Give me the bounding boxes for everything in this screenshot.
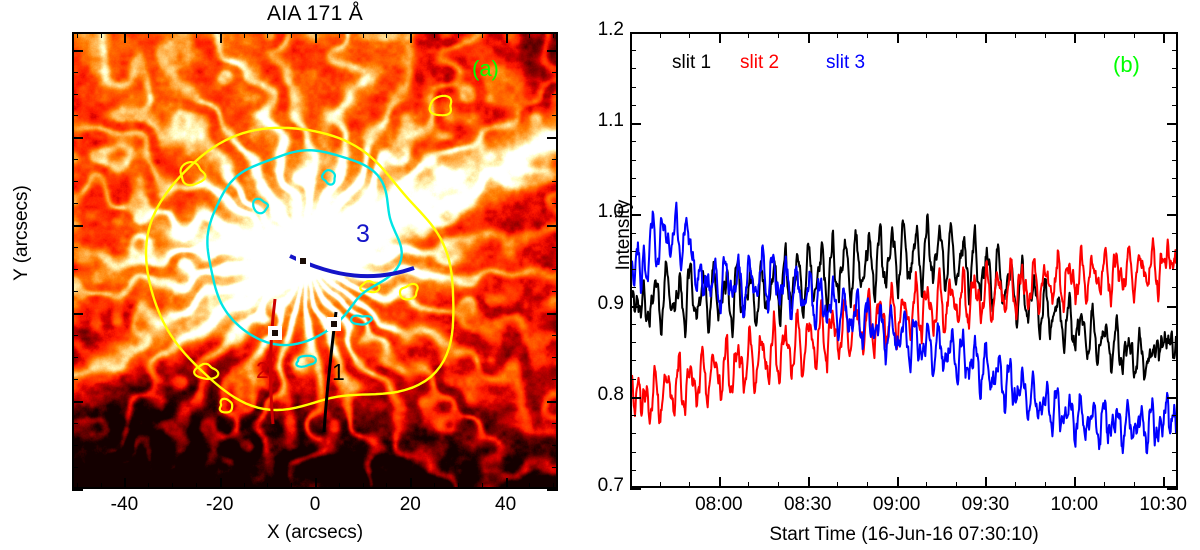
panel-a-tag: (a) [472,56,499,82]
y-tick-major-right [547,137,558,139]
y-tick-major-right [1167,32,1178,34]
x-tick-label: -40 [89,494,159,516]
y-tick-minor [630,360,636,361]
y-tick-minor-right [1172,452,1178,453]
y-tick-minor [630,50,636,51]
y-tick-minor-right [1172,87,1178,88]
y-tick-minor [72,423,78,424]
y-tick-minor [630,105,636,106]
panel-b-tag: (b) [1113,52,1140,78]
slit-2-curve [271,299,275,424]
y-tick-major-right [547,313,558,315]
yellow-contour-island [400,284,418,300]
y-tick-minor-right [1172,379,1178,380]
x-tick-minor [660,482,661,488]
y-tick-minor [72,203,78,204]
y-tick-minor-right [1172,178,1178,179]
x-tick-major-top [124,32,126,43]
x-tick-minor [529,483,530,489]
y-tick-minor-right [1172,269,1178,270]
y-tick-minor [630,379,636,380]
panel-b-x-axis-label: Start Time (16-Jun-16 07:30:10) [630,524,1178,546]
y-tick-minor [72,115,78,116]
x-tick-minor-top [267,32,268,38]
y-tick-minor-right [1172,50,1178,51]
y-tick-minor [72,94,78,95]
x-tick-minor [956,482,957,488]
x-tick-minor [1015,482,1016,488]
yellow-contour-island [360,281,379,292]
y-tick-minor-right [1172,433,1178,434]
y-tick-minor-right [552,467,558,468]
x-tick-minor-top [434,32,435,38]
x-tick-label: 0 [280,494,350,516]
y-tick-minor [630,68,636,69]
x-tick-major [1074,477,1076,488]
cyan-contour-island [296,356,315,367]
panel-a-title: AIA 171 Å [72,2,558,26]
y-tick-minor-right [552,357,558,358]
y-tick-minor [72,72,78,73]
x-tick-minor-top [482,32,483,38]
yellow-contour-island [430,96,452,116]
slit-1-marker-core [331,321,337,327]
panel-a-aia-image: AIA 171 Å 123 -40-2002040-80-100-120-140… [0,0,600,550]
y-tick-minor-right [552,445,558,446]
x-tick-minor-top [837,32,838,38]
x-tick-minor [689,482,690,488]
x-tick-minor [1134,482,1135,488]
x-tick-major [808,477,810,488]
x-tick-major-top [315,32,317,43]
x-tick-minor-top [101,32,102,38]
slit-3-marker-core [300,258,306,264]
x-tick-minor-top [148,32,149,38]
x-tick-major-top [719,32,721,43]
y-tick-minor [630,452,636,453]
y-tick-minor-right [552,94,558,95]
y-tick-major-right [1167,488,1178,490]
x-tick-minor [363,483,364,489]
x-tick-minor [101,483,102,489]
y-tick-major-right [547,225,558,227]
y-tick-minor [72,247,78,248]
x-tick-label: 08:30 [768,494,848,516]
y-tick-label: 0.8 [598,384,624,406]
x-tick-major-top [1163,32,1165,43]
y-tick-minor-right [552,203,558,204]
y-tick-minor-right [1172,160,1178,161]
y-tick-minor [72,181,78,182]
x-tick-minor-top [778,32,779,38]
y-tick-major-right [1167,123,1178,125]
x-tick-major-top [897,32,899,43]
y-tick-minor-right [552,72,558,73]
x-tick-label: 10:00 [1034,494,1114,516]
x-tick-minor-top [458,32,459,38]
y-tick-minor-right [552,115,558,116]
y-tick-major [72,50,83,52]
legend-item-slit-1: slit 1 [672,52,711,74]
x-tick-minor-top [363,32,364,38]
intensity-curves [632,34,1176,486]
y-tick-minor-right [1172,105,1178,106]
x-tick-label: 08:00 [679,494,759,516]
y-tick-minor-right [1172,287,1178,288]
x-tick-minor [867,482,868,488]
y-tick-label: 1.2 [598,19,624,41]
x-tick-minor-top [291,32,292,38]
x-tick-minor-top [244,32,245,38]
x-tick-label: 20 [375,494,445,516]
x-tick-major-top [410,32,412,43]
x-tick-label: 09:30 [945,494,1025,516]
y-tick-minor [72,467,78,468]
x-tick-minor-top [553,32,554,38]
y-tick-minor-right [552,423,558,424]
y-tick-minor-right [552,247,558,248]
y-tick-minor-right [552,159,558,160]
x-tick-minor [339,483,340,489]
y-tick-major [72,313,83,315]
x-tick-minor [148,483,149,489]
y-tick-major-right [1167,397,1178,399]
x-tick-minor-top [1104,32,1105,38]
x-tick-minor [926,482,927,488]
x-tick-minor-top [689,32,690,38]
y-tick-minor-right [1172,360,1178,361]
y-tick-major [72,137,83,139]
y-tick-minor-right [552,379,558,380]
x-tick-minor [434,483,435,489]
x-tick-major-top [220,32,222,43]
yellow-contour-island [194,364,218,379]
y-tick-minor [72,379,78,380]
x-tick-minor-top [926,32,927,38]
y-tick-label: 0.7 [598,475,624,497]
y-tick-minor-right [552,181,558,182]
y-tick-major [630,123,641,125]
y-tick-minor [630,342,636,343]
y-tick-minor [630,470,636,471]
y-tick-major-right [547,401,558,403]
y-tick-major-right [547,50,558,52]
x-tick-label: 09:00 [857,494,937,516]
y-tick-major-right [1167,214,1178,216]
x-tick-major [124,478,126,489]
x-tick-minor-top [529,32,530,38]
panel-b-y-axis-label: Intensity [613,145,635,325]
x-tick-major [719,477,721,488]
y-tick-minor-right [1172,324,1178,325]
x-tick-major [315,478,317,489]
x-tick-minor-top [172,32,173,38]
x-tick-minor [748,482,749,488]
y-tick-minor [72,291,78,292]
y-tick-minor [72,445,78,446]
x-tick-minor [482,483,483,489]
y-tick-major [630,488,641,490]
x-tick-major [897,477,899,488]
y-tick-minor [630,87,636,88]
x-tick-major-top [506,32,508,43]
y-tick-minor [72,269,78,270]
x-tick-major [220,478,222,489]
x-tick-minor [1104,482,1105,488]
y-tick-minor-right [1172,415,1178,416]
y-tick-minor [630,415,636,416]
cyan-contour-island [253,199,268,214]
x-tick-minor-top [748,32,749,38]
y-tick-minor-right [552,291,558,292]
panel-a-y-axis-label: Y (arcsecs) [11,143,33,323]
timeseries-plot-frame [630,32,1178,488]
y-tick-minor-right [552,269,558,270]
x-tick-major [410,478,412,489]
x-tick-minor [244,483,245,489]
y-tick-minor-right [1172,251,1178,252]
cyan-contour-island [351,316,372,325]
x-tick-label: -20 [185,494,255,516]
x-tick-minor [1045,482,1046,488]
x-tick-minor-top [1015,32,1016,38]
y-tick-minor-right [1172,196,1178,197]
slit-3-label: 3 [356,220,370,248]
slit-1-label: 1 [332,359,345,385]
x-tick-minor-top [956,32,957,38]
y-tick-label: 1.1 [598,110,624,132]
x-tick-minor [458,483,459,489]
x-tick-major-top [808,32,810,43]
x-tick-major [1163,477,1165,488]
x-tick-minor-top [1045,32,1046,38]
x-tick-major [985,477,987,488]
y-tick-minor-right [1172,233,1178,234]
y-tick-minor-right [1172,141,1178,142]
y-tick-minor [72,357,78,358]
overlay-contours-and-slits: 123 [74,34,556,487]
y-tick-minor-right [1172,68,1178,69]
y-tick-major [72,401,83,403]
x-tick-label: 10:30 [1123,494,1200,516]
y-tick-minor-right [1172,342,1178,343]
y-tick-minor [630,141,636,142]
y-tick-minor [630,433,636,434]
slit-2-marker-core [272,330,278,336]
panel-a-x-axis-label: X (arcsecs) [72,522,558,544]
cyan-contour [207,150,401,345]
x-tick-minor-top [386,32,387,38]
aia-image-frame: 123 [72,32,558,489]
x-tick-minor [386,483,387,489]
x-tick-minor-top [660,32,661,38]
x-tick-major-top [985,32,987,43]
x-tick-minor-top [196,32,197,38]
x-tick-major-top [1074,32,1076,43]
legend-item-slit-2: slit 2 [740,52,779,74]
y-tick-minor-right [1172,470,1178,471]
yellow-contour-island [220,399,232,413]
y-tick-minor [72,159,78,160]
cyan-contour-island [322,170,335,184]
x-tick-minor-top [77,32,78,38]
y-tick-major [72,489,83,491]
solar-figure: AIA 171 Å 123 -40-2002040-80-100-120-140… [0,0,1200,550]
x-tick-minor-top [339,32,340,38]
y-tick-major [630,397,641,399]
legend-item-slit-3: slit 3 [826,52,865,74]
x-tick-minor [196,483,197,489]
y-tick-major-right [1167,306,1178,308]
x-tick-minor [267,483,268,489]
x-tick-minor [778,482,779,488]
x-tick-minor-top [867,32,868,38]
x-tick-minor [172,483,173,489]
y-tick-minor [72,335,78,336]
x-tick-minor-top [1134,32,1135,38]
y-tick-major [72,225,83,227]
slit-2-label: 2 [256,357,269,383]
x-tick-minor [291,483,292,489]
y-tick-major-right [547,489,558,491]
x-tick-major [506,478,508,489]
x-tick-label: 40 [471,494,541,516]
y-tick-major [630,32,641,34]
x-tick-minor [837,482,838,488]
panel-b-intensity-timeseries: 08:0008:3009:0009:3010:0010:300.70.80.91… [600,0,1200,550]
y-tick-minor-right [552,335,558,336]
